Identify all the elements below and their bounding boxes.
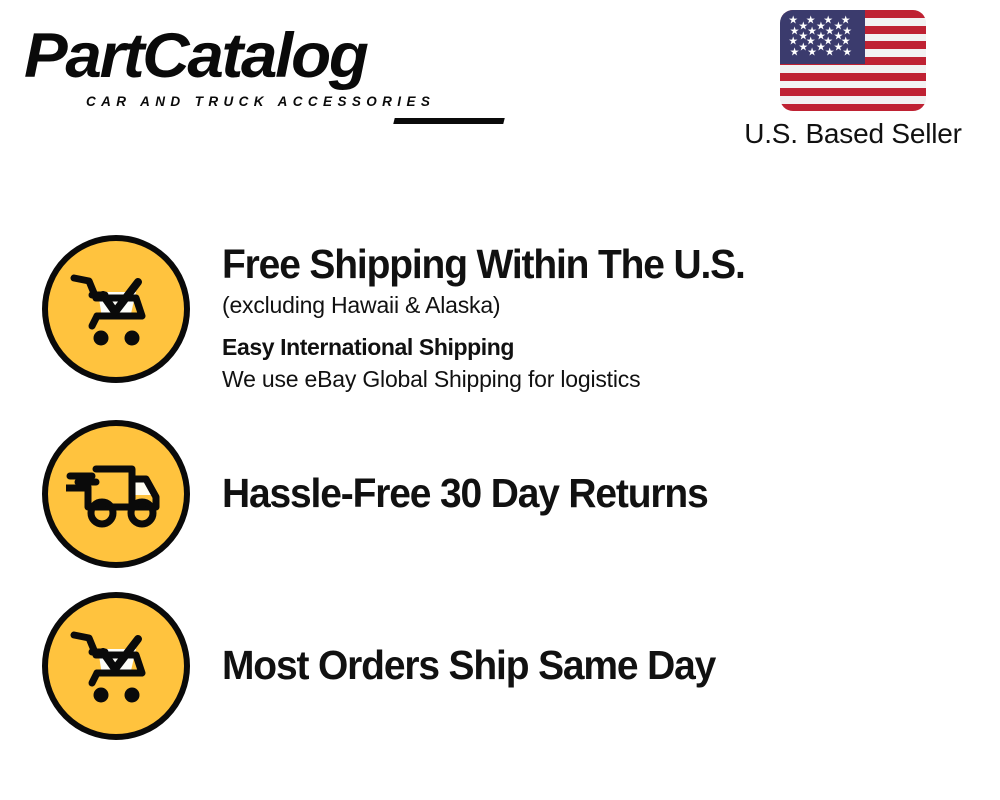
feature-text-block: Hassle-Free 30 Day Returns bbox=[190, 420, 972, 518]
delivery-truck-icon bbox=[42, 420, 190, 568]
us-based-seller-badge: ★ ★ ★ ★ ★ ★ ★ ★ ★ ★ ★ ★ ★ ★ ★ ★ ★ ★ ★ ★ bbox=[718, 10, 988, 151]
brand-wordmark: PartCatalog bbox=[24, 22, 367, 90]
us-flag-icon: ★ ★ ★ ★ ★ ★ ★ ★ ★ ★ ★ ★ ★ ★ ★ ★ ★ ★ ★ ★ bbox=[780, 10, 926, 111]
feature-row: Free Shipping Within The U.S. (excluding… bbox=[42, 235, 972, 395]
page-header: PartCatalog CAR AND TRUCK ACCESSORIES ★ … bbox=[0, 0, 1000, 170]
feature-text-block: Free Shipping Within The U.S. (excluding… bbox=[190, 235, 972, 395]
feature-sub-heading: Easy International Shipping bbox=[222, 332, 972, 363]
brand-underline-accent bbox=[393, 118, 504, 124]
brand-logo[interactable]: PartCatalog CAR AND TRUCK ACCESSORIES bbox=[24, 22, 494, 114]
feature-text-block: Most Orders Ship Same Day bbox=[190, 592, 972, 690]
us-based-seller-label: U.S. Based Seller bbox=[718, 117, 988, 151]
cart-check-icon bbox=[42, 592, 190, 740]
flag-stars: ★ ★ ★ ★ ★ ★ ★ ★ ★ ★ ★ ★ ★ ★ ★ ★ ★ ★ ★ ★ bbox=[780, 10, 926, 111]
feature-row: Hassle-Free 30 Day Returns bbox=[42, 420, 972, 568]
feature-title: Free Shipping Within The U.S. bbox=[222, 239, 935, 289]
feature-sub-detail: We use eBay Global Shipping for logistic… bbox=[222, 364, 972, 395]
feature-sub-note: (excluding Hawaii & Alaska) bbox=[222, 290, 972, 321]
cart-check-icon bbox=[42, 235, 190, 383]
feature-row: Most Orders Ship Same Day bbox=[42, 592, 972, 740]
feature-title: Hassle-Free 30 Day Returns bbox=[222, 468, 935, 518]
feature-title: Most Orders Ship Same Day bbox=[222, 640, 935, 690]
brand-tagline: CAR AND TRUCK ACCESSORIES bbox=[86, 94, 435, 109]
